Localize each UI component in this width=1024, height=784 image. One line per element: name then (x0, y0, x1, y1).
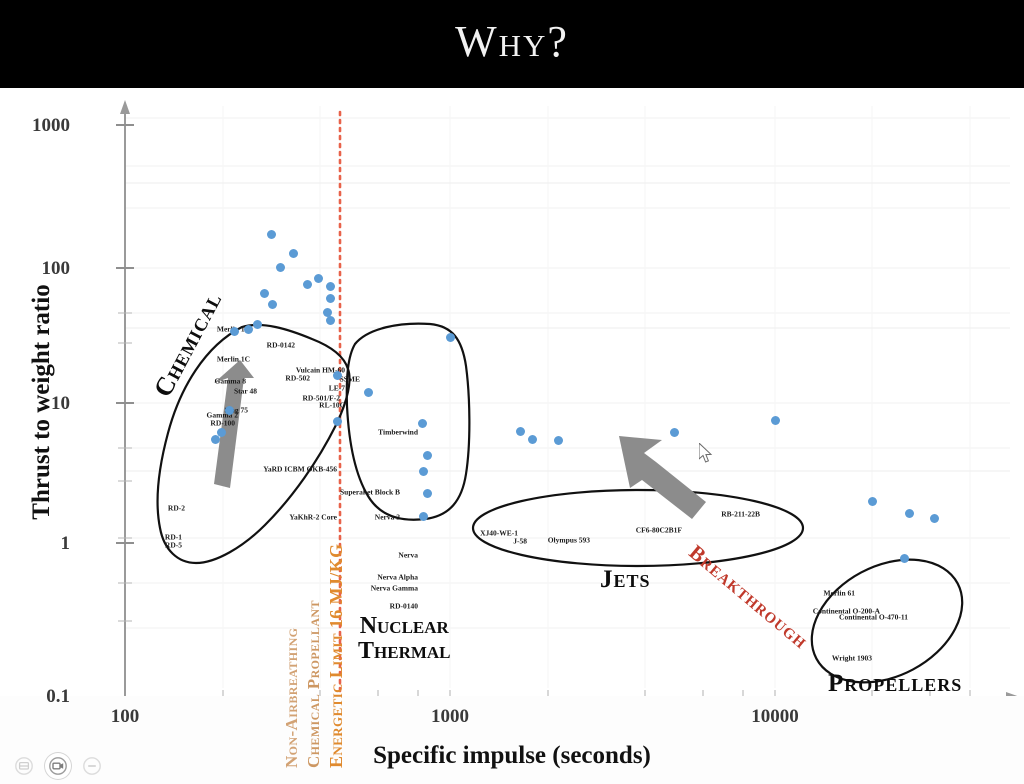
slide-root: Why? (0, 0, 1024, 784)
data-point (554, 436, 563, 445)
data-point (868, 497, 877, 506)
slide-view-icon[interactable] (10, 752, 38, 780)
data-point (314, 274, 323, 283)
data-point-label: YaKhR-2 Core (289, 513, 337, 522)
data-point (230, 327, 239, 336)
data-point (364, 388, 373, 397)
data-point-label: Wright 1903 (832, 654, 872, 663)
data-point-label: CF6-80C2B1F (636, 526, 682, 535)
data-point (930, 514, 939, 523)
data-point (670, 428, 679, 437)
data-point (419, 467, 428, 476)
data-point-label: Nerva 2 (375, 513, 400, 522)
data-point (268, 300, 277, 309)
data-point-label: Nerva (398, 551, 418, 560)
data-point-label: Nerva Alpha (377, 573, 418, 582)
data-point-label: Superaket Block B (340, 488, 400, 497)
x-tick-10000: 10000 (715, 706, 835, 728)
data-point-label: Star 48 (234, 387, 257, 396)
data-point-label: Merlin 1C (217, 355, 250, 364)
data-point-label: RD-502 (285, 374, 310, 383)
minus-icon[interactable] (78, 752, 106, 780)
data-point (276, 263, 285, 272)
slide-controls (6, 752, 146, 784)
data-point (326, 282, 335, 291)
data-point (423, 451, 432, 460)
data-point-label: Timberwind (378, 428, 418, 437)
data-point (303, 280, 312, 289)
data-point (905, 509, 914, 518)
data-point (418, 419, 427, 428)
data-point-label: LE-7 (329, 384, 345, 393)
x-tick-1000: 1000 (390, 706, 510, 728)
data-point-label: RD-2 (168, 504, 185, 513)
data-point-label: RD-0140 (390, 602, 418, 611)
data-point-label: Continental O-470-11 (839, 613, 908, 622)
data-point (900, 554, 909, 563)
data-point-label: Gamma 8 (215, 377, 246, 386)
data-point-label: Nerva Gamma (371, 584, 418, 593)
data-point (244, 325, 253, 334)
data-point-label: RB-211-22B (721, 510, 760, 519)
data-point-label: RD-0142 (267, 341, 295, 350)
data-point-label: RD-5 (165, 541, 182, 550)
x-tick-100: 100 (65, 706, 185, 728)
data-point-label: Merlin 61 (824, 589, 855, 598)
data-point-label: RD-100 (210, 419, 235, 428)
data-point (260, 289, 269, 298)
data-point (253, 320, 262, 329)
data-point (267, 230, 276, 239)
data-point (419, 512, 428, 521)
data-point (516, 427, 525, 436)
data-point-label: YaRD ICBM OKB-456 (263, 465, 337, 474)
video-camera-icon[interactable] (44, 752, 72, 780)
data-point-label: Olympus 593 (548, 536, 590, 545)
scatter-points-layer: Merlin 1DRD-0142Merlin 1CVulcain HM-60RD… (0, 88, 1024, 696)
page-title: Why? (0, 16, 1024, 67)
data-point (333, 417, 342, 426)
data-point (771, 416, 780, 425)
slide-title-bar: Why? (0, 0, 1024, 88)
data-point (326, 294, 335, 303)
x-axis-title: Specific impulse (seconds) (262, 742, 762, 770)
data-point-label: SSME (340, 375, 360, 384)
data-point (326, 316, 335, 325)
data-point-label: J-58 (513, 537, 527, 546)
data-point (446, 333, 455, 342)
data-point (528, 435, 537, 444)
data-point-label: RL-10C (319, 401, 345, 410)
data-point (211, 435, 220, 444)
data-point (333, 371, 342, 380)
data-point (289, 249, 298, 258)
chart-area: 1000 100 10 1 0.1 100 1000 10000 Thrust … (0, 88, 1024, 696)
data-point (423, 489, 432, 498)
